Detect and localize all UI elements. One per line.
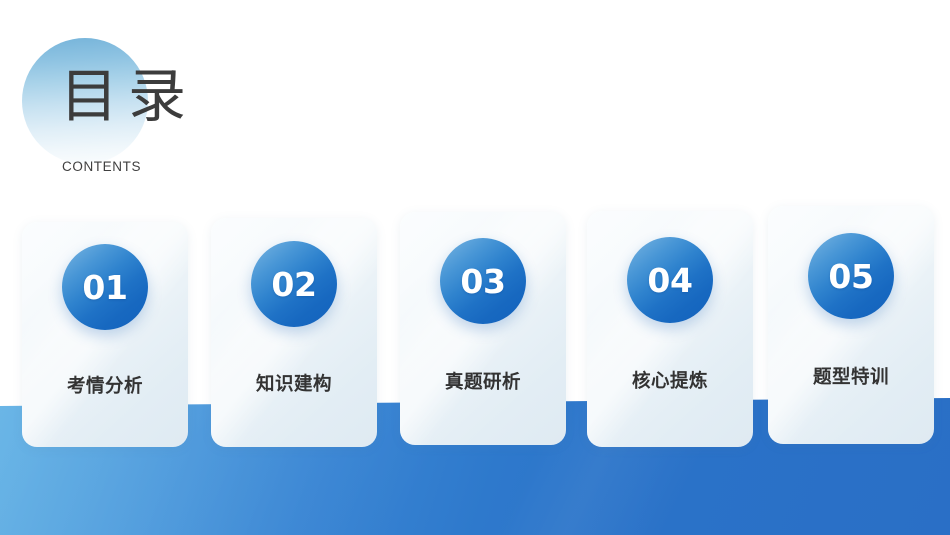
- agenda-card-label: 知识建构: [211, 370, 377, 396]
- agenda-card[interactable]: 04 核心提炼: [587, 211, 753, 447]
- agenda-number-badge: 02: [251, 241, 337, 327]
- agenda-number-text: 02: [271, 268, 316, 301]
- slide-canvas: 目录 CONTENTS 01 考情分析 02 知识建构 03 真题研析 04 核…: [0, 0, 950, 535]
- agenda-number-badge: 01: [62, 244, 148, 330]
- agenda-card[interactable]: 05 题型特训: [768, 206, 934, 444]
- agenda-number-text: 03: [460, 265, 505, 298]
- agenda-number-badge: 03: [440, 238, 526, 324]
- agenda-card-label: 真题研析: [400, 368, 566, 394]
- agenda-card[interactable]: 03 真题研析: [400, 212, 566, 445]
- agenda-number-badge: 04: [627, 237, 713, 323]
- agenda-number-text: 04: [647, 264, 692, 297]
- page-subtitle: CONTENTS: [62, 159, 141, 174]
- agenda-card-label: 题型特训: [768, 363, 934, 389]
- agenda-card[interactable]: 02 知识建构: [211, 218, 377, 447]
- page-title: 目录: [60, 66, 196, 127]
- agenda-number-text: 01: [82, 271, 127, 304]
- agenda-number-text: 05: [828, 260, 873, 293]
- agenda-card-label: 考情分析: [22, 372, 188, 398]
- agenda-number-badge: 05: [808, 233, 894, 319]
- agenda-card-label: 核心提炼: [587, 367, 753, 393]
- agenda-card[interactable]: 01 考情分析: [22, 222, 188, 447]
